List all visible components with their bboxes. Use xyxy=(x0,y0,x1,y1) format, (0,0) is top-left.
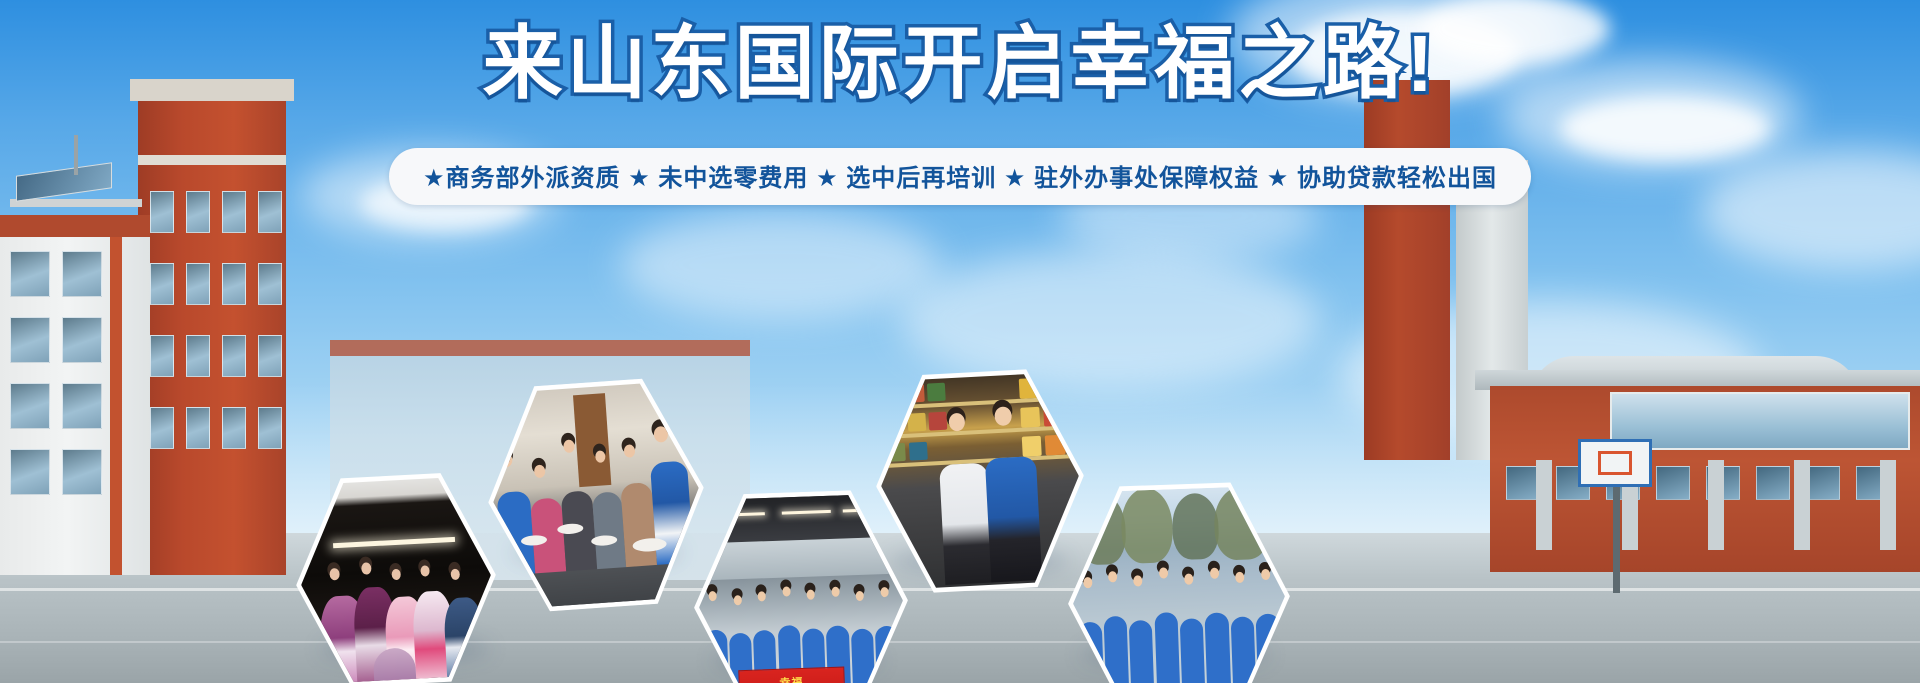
sushi-making-class-photo xyxy=(485,373,707,617)
group-with-red-banner-photo: 幸福 山东国际合作有限公司 xyxy=(695,487,907,683)
banner-title: 来山东国际开启幸福之路! xyxy=(483,24,1438,104)
hexagon-photo-2[interactable] xyxy=(480,368,712,622)
red-banner: 幸福 山东国际合作有限公司 xyxy=(738,666,845,683)
hexagon-photo-3[interactable]: 幸福 山东国际合作有限公司 xyxy=(690,481,912,683)
banner-title-container: 来山东国际开启幸福之路! xyxy=(0,24,1920,104)
benefits-pill: ★商务部外派资质 ★ 未中选零费用 ★ 选中后再培训 ★ 驻外办事处保障权益 ★… xyxy=(389,148,1531,205)
red-banner-text: 幸福 xyxy=(739,673,844,683)
hexagon-photo-collage: 幸福 山东国际合作有限公司 xyxy=(0,263,1920,683)
promo-banner: 来山东国际开启幸福之路! ★商务部外派资质 ★ 未中选零费用 ★ 选中后再培训 … xyxy=(0,0,1920,683)
benefits-pill-container: ★商务部外派资质 ★ 未中选零费用 ★ 选中后再培训 ★ 驻外办事处保障权益 ★… xyxy=(0,148,1920,205)
benefits-text: ★商务部外派资质 ★ 未中选零费用 ★ 选中后再培训 ★ 驻外办事处保障权益 ★… xyxy=(423,158,1497,193)
outdoor-class-group-photo xyxy=(1069,478,1289,683)
hexagon-photo-5[interactable] xyxy=(1064,473,1294,683)
